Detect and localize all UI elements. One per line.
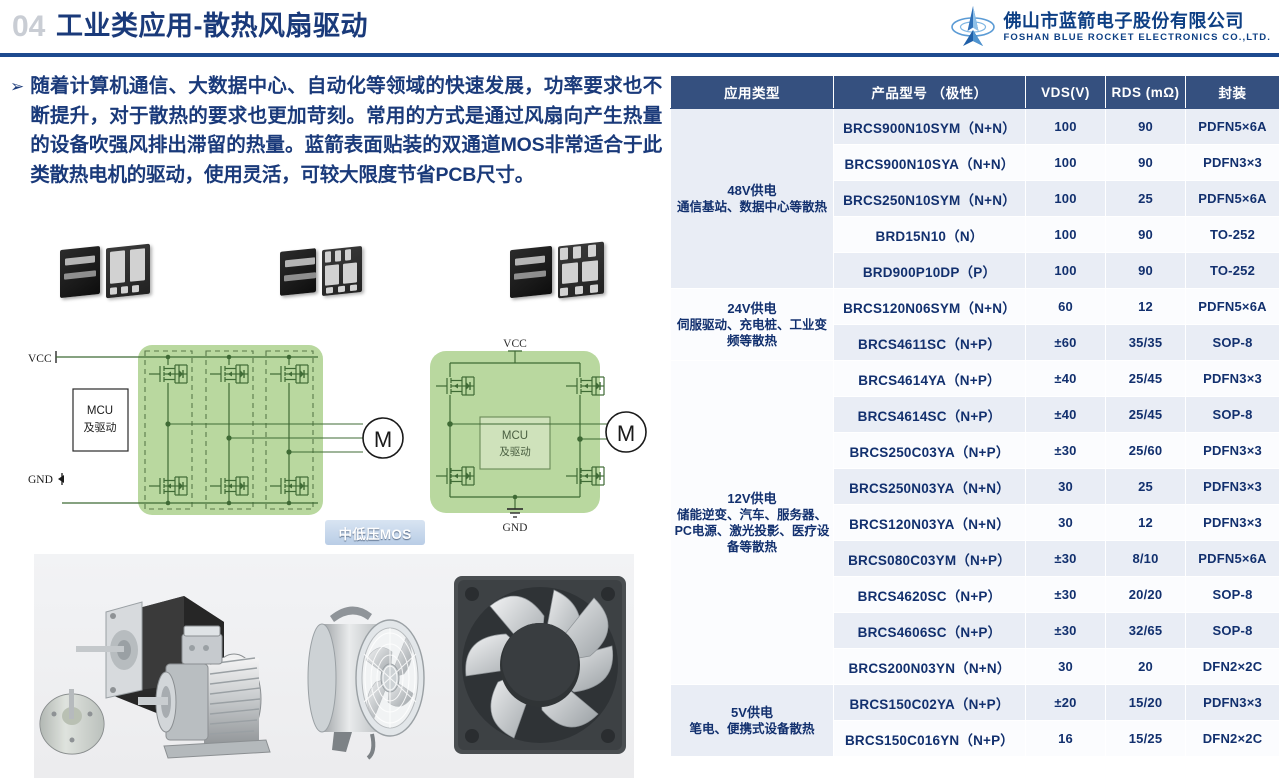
- package-top-view: [280, 248, 316, 296]
- cell-package: PDFN3×3: [1186, 145, 1279, 181]
- cell-product-model: BRD900P10DP（P）: [834, 253, 1026, 289]
- left-content-column: ➢ 随着计算机通信、大数据中心、自动化等领域的快速发展，功率要求也不断提升，对于…: [0, 62, 664, 720]
- section-number: 04: [12, 8, 45, 46]
- table-header-row: 应用类型 产品型号 （极性） VDS(V) RDS (mΩ) 封装: [671, 76, 1279, 109]
- cell-package: PDFN5×6A: [1186, 181, 1279, 217]
- cell-product-model: BRCS4611SC（N+P）: [834, 325, 1026, 361]
- gnd-label-right: GND: [503, 522, 528, 534]
- cell-application-type: 24V供电伺服驱动、充电桩、工业变频等散热: [671, 289, 834, 361]
- cell-package: PDFN3×3: [1186, 505, 1279, 541]
- cell-rds: 90: [1106, 145, 1186, 181]
- dc-micro-motor: [40, 689, 104, 754]
- cell-rds: 25/60: [1106, 433, 1186, 469]
- cell-product-model: BRCS900N10SYM（N+N）: [834, 109, 1026, 145]
- cell-product-model: BRCS250N10SYM（N+N）: [834, 181, 1026, 217]
- mid-low-voltage-mos-badge: 中低压MOS: [325, 520, 425, 545]
- cell-vds: 16: [1026, 721, 1106, 757]
- cell-vds: 100: [1026, 217, 1106, 253]
- cell-rds: 15/25: [1106, 721, 1186, 757]
- cell-rds: 35/35: [1106, 325, 1186, 361]
- cell-vds: 100: [1026, 145, 1106, 181]
- cell-rds: 32/65: [1106, 613, 1186, 649]
- cell-product-model: BRCS4606SC（N+P）: [834, 613, 1026, 649]
- mcu-sub-label-left: 及驱动: [84, 421, 117, 434]
- cell-vds: 100: [1026, 109, 1106, 145]
- logo-company-name-cn: 佛山市蓝箭电子股份有限公司: [1003, 12, 1271, 30]
- cell-package: SOP-8: [1186, 613, 1279, 649]
- cell-rds: 90: [1106, 217, 1186, 253]
- col-header-vds: VDS(V): [1026, 76, 1106, 109]
- mcu-label-right: MCU: [502, 430, 528, 442]
- cell-package: SOP-8: [1186, 325, 1279, 361]
- cell-package: SOP-8: [1186, 397, 1279, 433]
- cell-vds: ±60: [1026, 325, 1106, 361]
- table-row: 5V供电笔电、便携式设备散热BRCS150C02YA（N+P）±2015/20P…: [671, 685, 1279, 721]
- axial-duct-fan: [308, 606, 424, 758]
- page-title: 工业类应用-散热风扇驱动: [56, 6, 368, 46]
- cell-package: PDFN3×3: [1186, 685, 1279, 721]
- cell-product-model: BRCS150C016YN（N+P）: [834, 721, 1026, 757]
- table-body: 48V供电通信基站、数据中心等散热BRCS900N10SYM（N+N）10090…: [671, 109, 1279, 757]
- mcu-sub-label-right: 及驱动: [499, 446, 531, 458]
- cell-product-model: BRCS200N03YN（N+N）: [834, 649, 1026, 685]
- col-header-package: 封装: [1186, 76, 1279, 109]
- cell-package: SOP-8: [1186, 577, 1279, 613]
- cell-product-model: BRCS120N06SYM（N+N）: [834, 289, 1026, 325]
- cell-rds: 20/20: [1106, 577, 1186, 613]
- vcc-label-right: VCC: [503, 338, 527, 350]
- vcc-label-left: VCC: [28, 353, 52, 365]
- cell-package: PDFN3×3: [1186, 469, 1279, 505]
- cell-package: PDFN5×6A: [1186, 289, 1279, 325]
- package-bottom-view: [322, 246, 362, 296]
- cell-application-type: 48V供电通信基站、数据中心等散热: [671, 109, 834, 289]
- package-top-view: [510, 246, 552, 298]
- package-photo-dfn2x2c-6l: [510, 244, 604, 296]
- bullet-marker-icon: ➢: [6, 72, 24, 190]
- cell-package: TO-252: [1186, 217, 1279, 253]
- table-row: 24V供电伺服驱动、充电桩、工业变频等散热BRCS120N06SYM（N+N）6…: [671, 289, 1279, 325]
- col-header-rds: RDS (mΩ): [1106, 76, 1186, 109]
- cell-product-model: BRCS150C02YA（N+P）: [834, 685, 1026, 721]
- cell-application-type: 5V供电笔电、便携式设备散热: [671, 685, 834, 757]
- cell-package: PDFN3×3: [1186, 361, 1279, 397]
- package-photo-strip: [60, 242, 660, 302]
- cell-vds: ±40: [1026, 397, 1106, 433]
- cell-rds: 25/45: [1106, 397, 1186, 433]
- cell-vds: 60: [1026, 289, 1106, 325]
- cell-rds: 25/45: [1106, 361, 1186, 397]
- cell-vds: 100: [1026, 181, 1106, 217]
- cell-rds: 25: [1106, 181, 1186, 217]
- package-photo-pdfn5x6a: [60, 246, 150, 296]
- table-row: 12V供电储能逆变、汽车、服务器、PC电源、激光投影、医疗设备等散热BRCS46…: [671, 361, 1279, 397]
- cell-product-model: BRCS120N03YA（N+N）: [834, 505, 1026, 541]
- schematic-diagrams: VCC GND MCU 及驱动: [18, 307, 658, 547]
- cell-rds: 90: [1106, 109, 1186, 145]
- cell-rds: 12: [1106, 289, 1186, 325]
- cell-package: DFN2×2C: [1186, 649, 1279, 685]
- product-specification-table: 应用类型 产品型号 （极性） VDS(V) RDS (mΩ) 封装 48V供电通…: [670, 75, 1279, 715]
- cell-product-model: BRCS4614YA（N+P）: [834, 361, 1026, 397]
- package-top-view: [60, 246, 100, 298]
- table-row: 48V供电通信基站、数据中心等散热BRCS900N10SYM（N+N）10090…: [671, 109, 1279, 145]
- cell-vds: 30: [1026, 649, 1106, 685]
- cell-vds: 100: [1026, 253, 1106, 289]
- package-bottom-view: [558, 242, 604, 299]
- col-header-application-type: 应用类型: [671, 76, 834, 109]
- cell-vds: 30: [1026, 469, 1106, 505]
- cell-rds: 12: [1106, 505, 1186, 541]
- cell-rds: 20: [1106, 649, 1186, 685]
- cell-product-model: BRCS4620SC（N+P）: [834, 577, 1026, 613]
- cell-package: DFN2×2C: [1186, 721, 1279, 757]
- cell-vds: ±30: [1026, 577, 1106, 613]
- cell-product-model: BRCS080C03YM（N+P）: [834, 541, 1026, 577]
- motor-label-left: M: [374, 427, 392, 452]
- description-bullet: ➢ 随着计算机通信、大数据中心、自动化等领域的快速发展，功率要求也不断提升，对于…: [6, 72, 662, 190]
- cell-package: PDFN5×6A: [1186, 541, 1279, 577]
- package-bottom-view: [106, 244, 150, 299]
- cell-rds: 8/10: [1106, 541, 1186, 577]
- cell-product-model: BRD15N10（N）: [834, 217, 1026, 253]
- cell-package: TO-252: [1186, 253, 1279, 289]
- cell-package: PDFN5×6A: [1186, 109, 1279, 145]
- cell-product-model: BRCS4614SC（N+P）: [834, 397, 1026, 433]
- pc-cooling-fan: [454, 576, 626, 754]
- cell-vds: ±30: [1026, 541, 1106, 577]
- gnd-label-left: GND: [28, 474, 53, 486]
- cell-vds: ±40: [1026, 361, 1106, 397]
- cell-product-model: BRCS900N10SYA（N+N）: [834, 145, 1026, 181]
- cell-vds: ±30: [1026, 613, 1106, 649]
- cell-vds: ±20: [1026, 685, 1106, 721]
- cell-package: PDFN3×3: [1186, 433, 1279, 469]
- col-header-product-model: 产品型号 （极性）: [834, 76, 1026, 109]
- motor-label-right: M: [617, 421, 635, 446]
- cell-rds: 90: [1106, 253, 1186, 289]
- cell-rds: 25: [1106, 469, 1186, 505]
- cell-product-model: BRCS250C03YA（N+P）: [834, 433, 1026, 469]
- mcu-label-left: MCU: [87, 405, 113, 417]
- cell-rds: 15/20: [1106, 685, 1186, 721]
- cell-vds: ±30: [1026, 433, 1106, 469]
- cell-product-model: BRCS250N03YA（N+N）: [834, 469, 1026, 505]
- motors-and-fans-photo: [34, 554, 634, 778]
- cell-vds: 30: [1026, 505, 1106, 541]
- package-photo-pdfn3x3-8l: [280, 248, 362, 294]
- slide-header: 04 工业类应用-散热风扇驱动 佛山市蓝箭电子股份有限公司 FOSHAN BLU…: [0, 0, 1279, 60]
- header-divider: [0, 53, 1279, 57]
- rocket-arrow-logo-icon: [950, 5, 996, 49]
- cell-application-type: 12V供电储能逆变、汽车、服务器、PC电源、激光投影、医疗设备等散热: [671, 361, 834, 685]
- description-text: 随着计算机通信、大数据中心、自动化等领域的快速发展，功率要求也不断提升，对于散热…: [30, 72, 662, 190]
- logo-company-name-en: FOSHAN BLUE ROCKET ELECTRONICS CO.,LTD.: [1003, 33, 1271, 43]
- company-logo: 佛山市蓝箭电子股份有限公司 FOSHAN BLUE ROCKET ELECTRO…: [950, 5, 1271, 49]
